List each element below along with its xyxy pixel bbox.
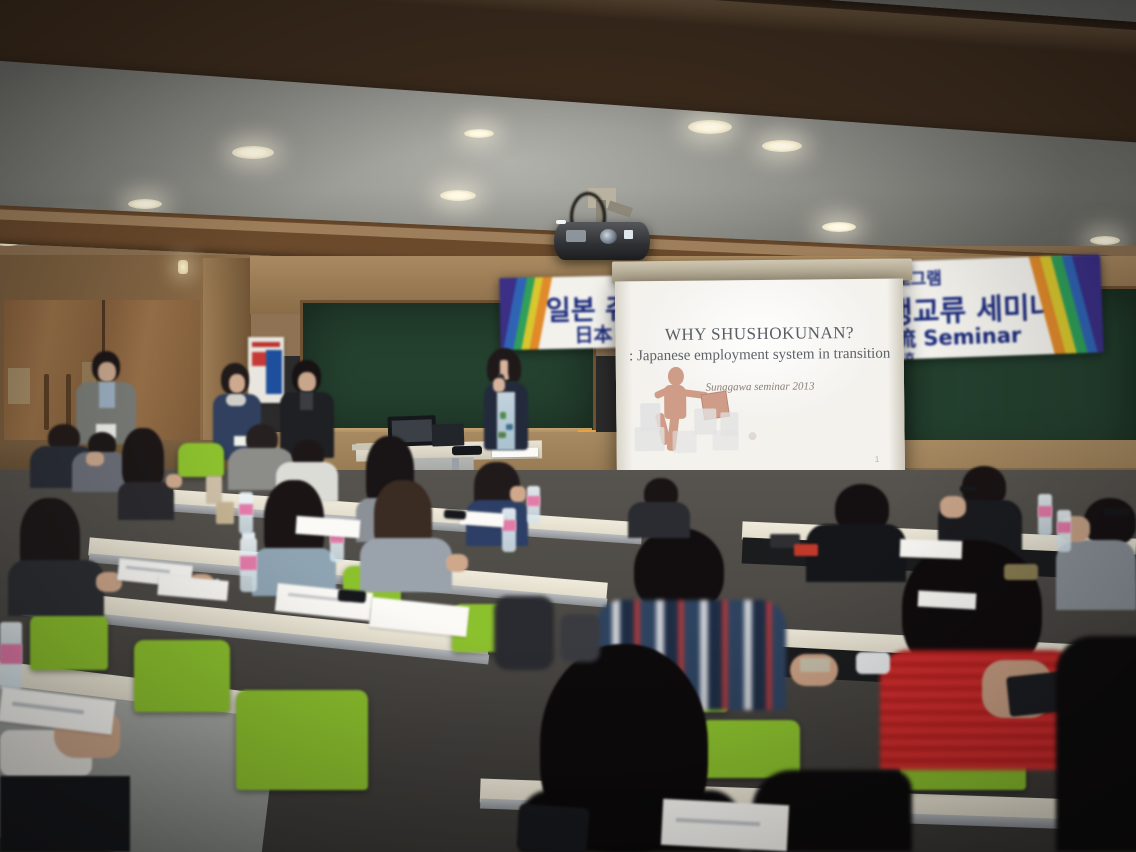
recessed-oval-light [232,146,274,159]
eyeglasses [960,486,978,492]
standing-man-shirt-collar [99,382,115,408]
slide-page-number: 1 [875,455,880,464]
projector-indicator [624,230,633,239]
audience-body [118,482,174,520]
standing-woman-collar [226,394,246,406]
audience-body [8,560,104,616]
projection-screen: WHY SHUSHOKUNAN? : Japanese employment s… [615,278,905,487]
lecture-hall-photo: 일본 쥬오 日本 中 로그램 생교류 세미나 流 Seminar 8호 WHY … [0,0,1136,852]
standing-man-dark-face [298,372,316,392]
recessed-oval-light [440,190,476,201]
door-handle[interactable] [66,374,71,430]
slide-crowd-shape [712,430,738,450]
standing-woman-face [229,374,245,393]
drink-cup[interactable] [216,502,234,524]
pencil-case[interactable] [794,544,818,556]
paper-handout [661,799,789,852]
bottle-label [502,520,516,531]
backpack[interactable] [494,596,554,670]
bag [1004,564,1038,580]
drink-cup[interactable] [206,476,222,504]
recessed-oval-light [822,222,856,232]
projector-lens [600,229,617,244]
lectern-laptop[interactable] [432,423,465,446]
bottle-label [240,556,257,570]
bag[interactable] [560,614,600,662]
audience-hand [446,554,468,572]
chair[interactable] [30,614,108,670]
audience-body-foreground [1056,636,1136,852]
desk-remote[interactable] [452,446,482,456]
presenter-hair-side [508,356,521,382]
chair[interactable] [236,690,368,790]
slide-subtitle: : Japanese employment system in transiti… [616,345,904,365]
slide-crowd-shape [672,431,696,453]
paper-handout [460,510,505,527]
presenter-hand [493,378,505,392]
chair[interactable] [134,640,230,712]
audience-body [806,524,906,582]
audience-hand [86,452,104,466]
poster-figure [266,350,282,394]
audience-hand [510,486,526,502]
smartphone[interactable] [338,589,367,603]
audience-head [1084,498,1136,546]
door-handle[interactable] [44,374,49,430]
slide-figure-head [668,367,684,386]
presenter-dress-pattern [506,424,513,430]
desk-object [800,658,830,672]
chair[interactable] [700,720,800,778]
presenter-dress-pattern [498,432,506,438]
slide-title: WHY SHUSHOKUNAN? [615,322,903,345]
slide-crowd-shape [749,432,757,440]
audience-long-hair [122,428,164,490]
screen-edge-left [615,281,633,487]
projector-status-light [556,220,566,224]
audience-hand [166,474,182,488]
standing-man-gray-vest-face [98,362,116,382]
banner-right: 로그램 생교류 세미나 流 Seminar 8호 [888,254,1103,359]
eyeglasses [1104,508,1130,516]
chair[interactable] [178,443,224,477]
standing-man-dark-collar [300,392,313,410]
slide-crowd-shape [634,427,664,451]
wall-sconce-light [178,260,188,274]
recessed-oval-light [464,129,494,138]
audience-hand [940,496,966,518]
smartphone[interactable] [444,509,467,520]
computer-mouse[interactable] [856,652,890,674]
audience-body [0,776,130,852]
bottle-label [239,504,253,515]
door-window [8,368,30,404]
presenter-dress [497,392,515,450]
bottle-label [0,644,22,664]
bottle-label [527,496,540,506]
smartphone[interactable] [516,804,589,852]
poster-headline [252,342,280,347]
recessed-oval-light [762,140,802,152]
screen-edge-right [887,278,905,484]
projector-vent [566,230,586,242]
bottle-label [1057,522,1071,533]
audience-body [628,502,690,538]
audience-body [360,538,452,592]
paper-handout [918,590,977,609]
recessed-oval-light [128,199,162,209]
bottle-label [1038,506,1052,517]
recessed-oval-light [688,120,732,134]
recessed-oval-light [1090,236,1120,245]
paper-handout [900,539,963,559]
presenter-dress-pattern [500,412,506,419]
